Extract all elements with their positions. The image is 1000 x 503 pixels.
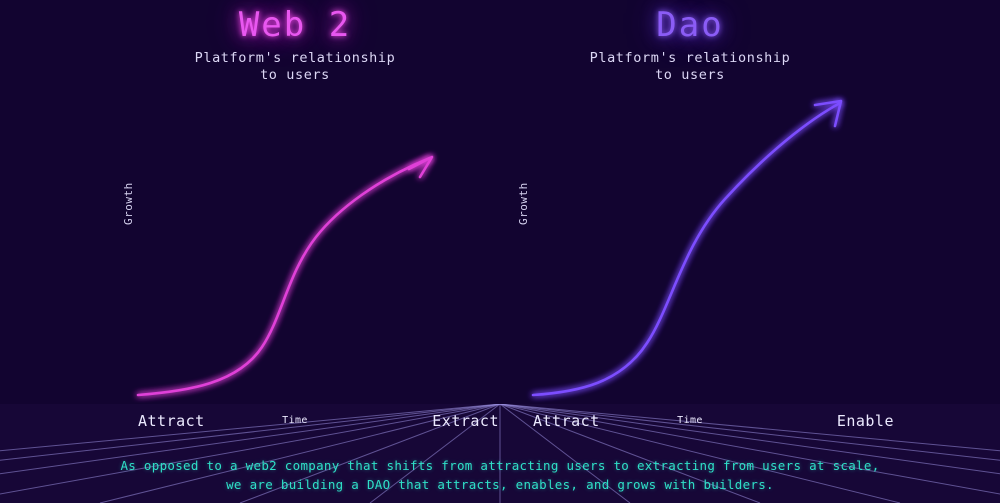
panel-title-dao: Dao bbox=[470, 5, 910, 45]
x-axis-labels-dao: Attract Time Enable bbox=[470, 410, 910, 434]
chart-dao: Growth bbox=[525, 95, 855, 410]
chart-web2: Growth bbox=[130, 95, 460, 410]
chart-web2-svg bbox=[130, 95, 460, 410]
y-axis-label-web2: Growth bbox=[122, 182, 135, 225]
panel-dao: Dao Platform's relationship to users bbox=[470, 0, 910, 440]
panel-subtitle-web2: Platform's relationship to users bbox=[75, 50, 515, 84]
x-axis-labels-web2: Attract Time Extract bbox=[75, 410, 515, 434]
growth-arrowhead-web2 bbox=[409, 157, 432, 177]
x-axis-end-label-dao: Enable bbox=[837, 412, 894, 430]
growth-curve-web2 bbox=[138, 158, 430, 395]
growth-curve-dao bbox=[533, 103, 840, 395]
chart-dao-svg bbox=[525, 95, 855, 410]
panel-title-web2: Web 2 bbox=[75, 5, 515, 45]
slide-canvas: Web 2 Platform's relationship to users bbox=[0, 0, 1000, 503]
panel-web2: Web 2 Platform's relationship to users bbox=[75, 0, 515, 440]
y-axis-label-dao: Growth bbox=[517, 182, 530, 225]
summary-caption: As opposed to a web2 company that shifts… bbox=[0, 456, 1000, 494]
panel-subtitle-dao: Platform's relationship to users bbox=[470, 50, 910, 84]
